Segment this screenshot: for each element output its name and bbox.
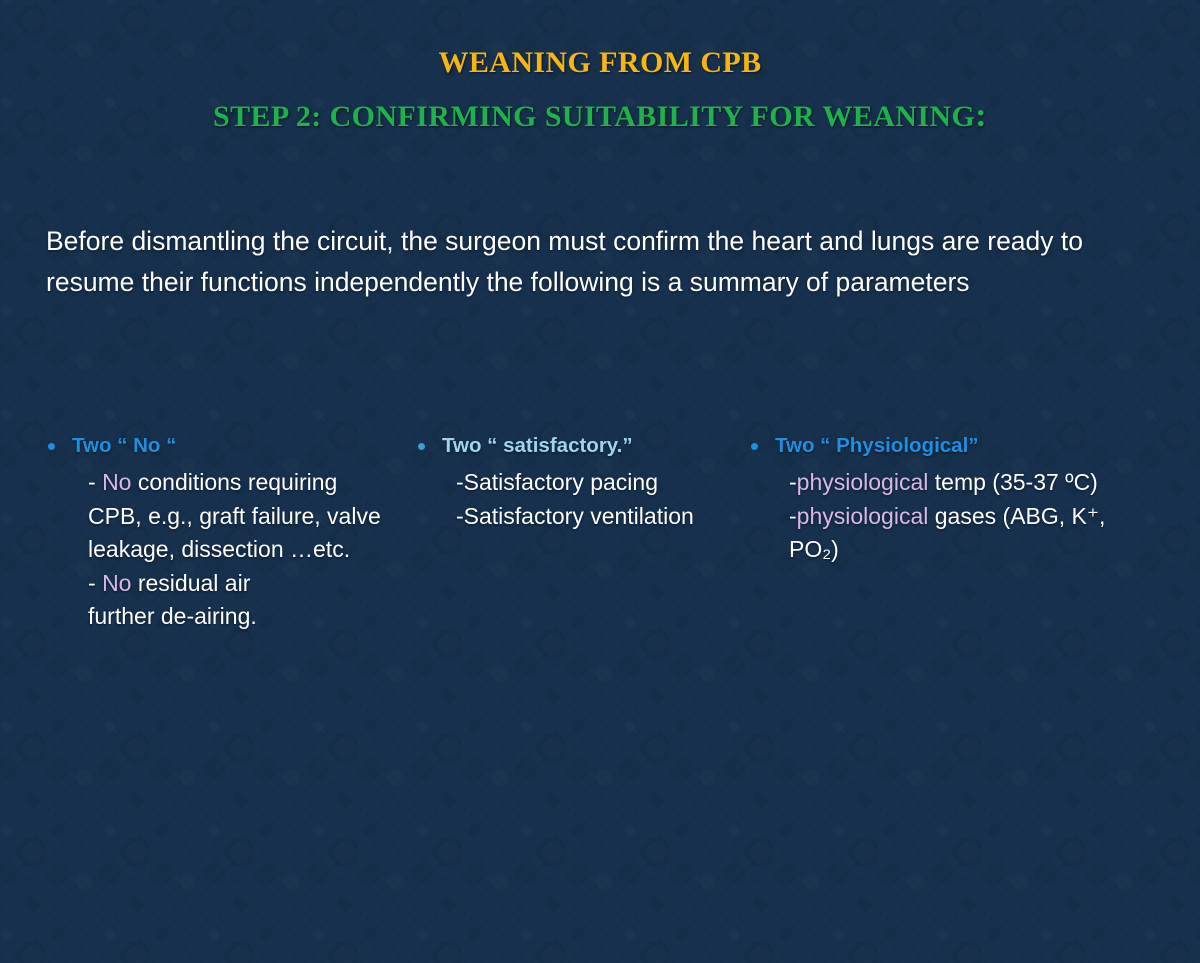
line-accent: No [102,570,131,596]
slide-subtitle-colon: : [975,97,987,134]
line-prefix: - [789,469,797,495]
column-body: - No conditions requiring CPB, e.g., gra… [42,466,412,634]
line-rest: -Satisfactory ventilation [456,503,694,529]
line-accent: physiological [797,469,929,495]
line-prefix: - [88,570,102,596]
line-rest: gases (ABG, K⁺, [928,503,1105,529]
slide-subtitle-text: STEP 2: CONFIRMING SUITABILITY FOR WEANI… [213,100,975,133]
column-heading: Two “ Physiological” [745,433,1165,459]
slide-canvas: WEANING FROM CPB STEP 2: CONFIRMING SUIT… [0,0,1200,963]
column-heading-label: Two “ Physiological” [775,434,979,457]
list-item: CPB, e.g., graft failure, valve [88,500,412,534]
list-item: further de-airing. [88,600,412,634]
column-list: Two “ No “ - No conditions requiring CPB… [0,433,1200,653]
line-rest: further de-airing. [88,603,257,629]
slide-title: WEANING FROM CPB [0,46,1200,80]
column-heading-label: Two “ No “ [72,434,176,457]
list-item: -physiological gases (ABG, K⁺, [789,500,1165,534]
slide-subtitle: STEP 2: CONFIRMING SUITABILITY FOR WEANI… [0,97,1200,135]
line-rest: conditions requiring [131,469,337,495]
bullet-icon [751,443,758,450]
line-rest: temp (35-37 ºC) [928,469,1097,495]
line-rest: residual air [131,570,250,596]
list-item: -Satisfactory ventilation [456,500,742,534]
column-two-physiological: Two “ Physiological” -physiological temp… [745,433,1165,567]
list-item: leakage, dissection …etc. [88,533,412,567]
column-body: -Satisfactory pacing -Satisfactory venti… [412,466,742,533]
list-item: - No residual air [88,567,412,601]
line-rest: CPB, e.g., graft failure, valve [88,503,381,529]
bullet-icon [48,443,55,450]
column-two-satisfactory: Two “ satisfactory.” -Satisfactory pacin… [412,433,742,533]
line-prefix: - [88,469,102,495]
line-accent: No [102,469,131,495]
line-rest: -Satisfactory pacing [456,469,658,495]
line-accent: physiological [797,503,929,529]
list-item: -physiological temp (35-37 ºC) [789,466,1165,500]
intro-paragraph: Before dismantling the circuit, the surg… [46,221,1106,303]
column-heading-label: Two “ satisfactory.” [442,434,633,457]
line-rest: leakage, dissection …etc. [88,536,350,562]
list-item: - No conditions requiring [88,466,412,500]
line-rest: PO₂) [789,536,839,562]
line-prefix: - [789,503,797,529]
list-item: -Satisfactory pacing [456,466,742,500]
bullet-icon [418,443,425,450]
column-two-no: Two “ No “ - No conditions requiring CPB… [42,433,412,634]
list-item: PO₂) [789,533,1165,567]
column-heading: Two “ No “ [42,433,412,459]
column-heading: Two “ satisfactory.” [412,433,742,459]
column-body: -physiological temp (35-37 ºC) -physiolo… [745,466,1165,567]
